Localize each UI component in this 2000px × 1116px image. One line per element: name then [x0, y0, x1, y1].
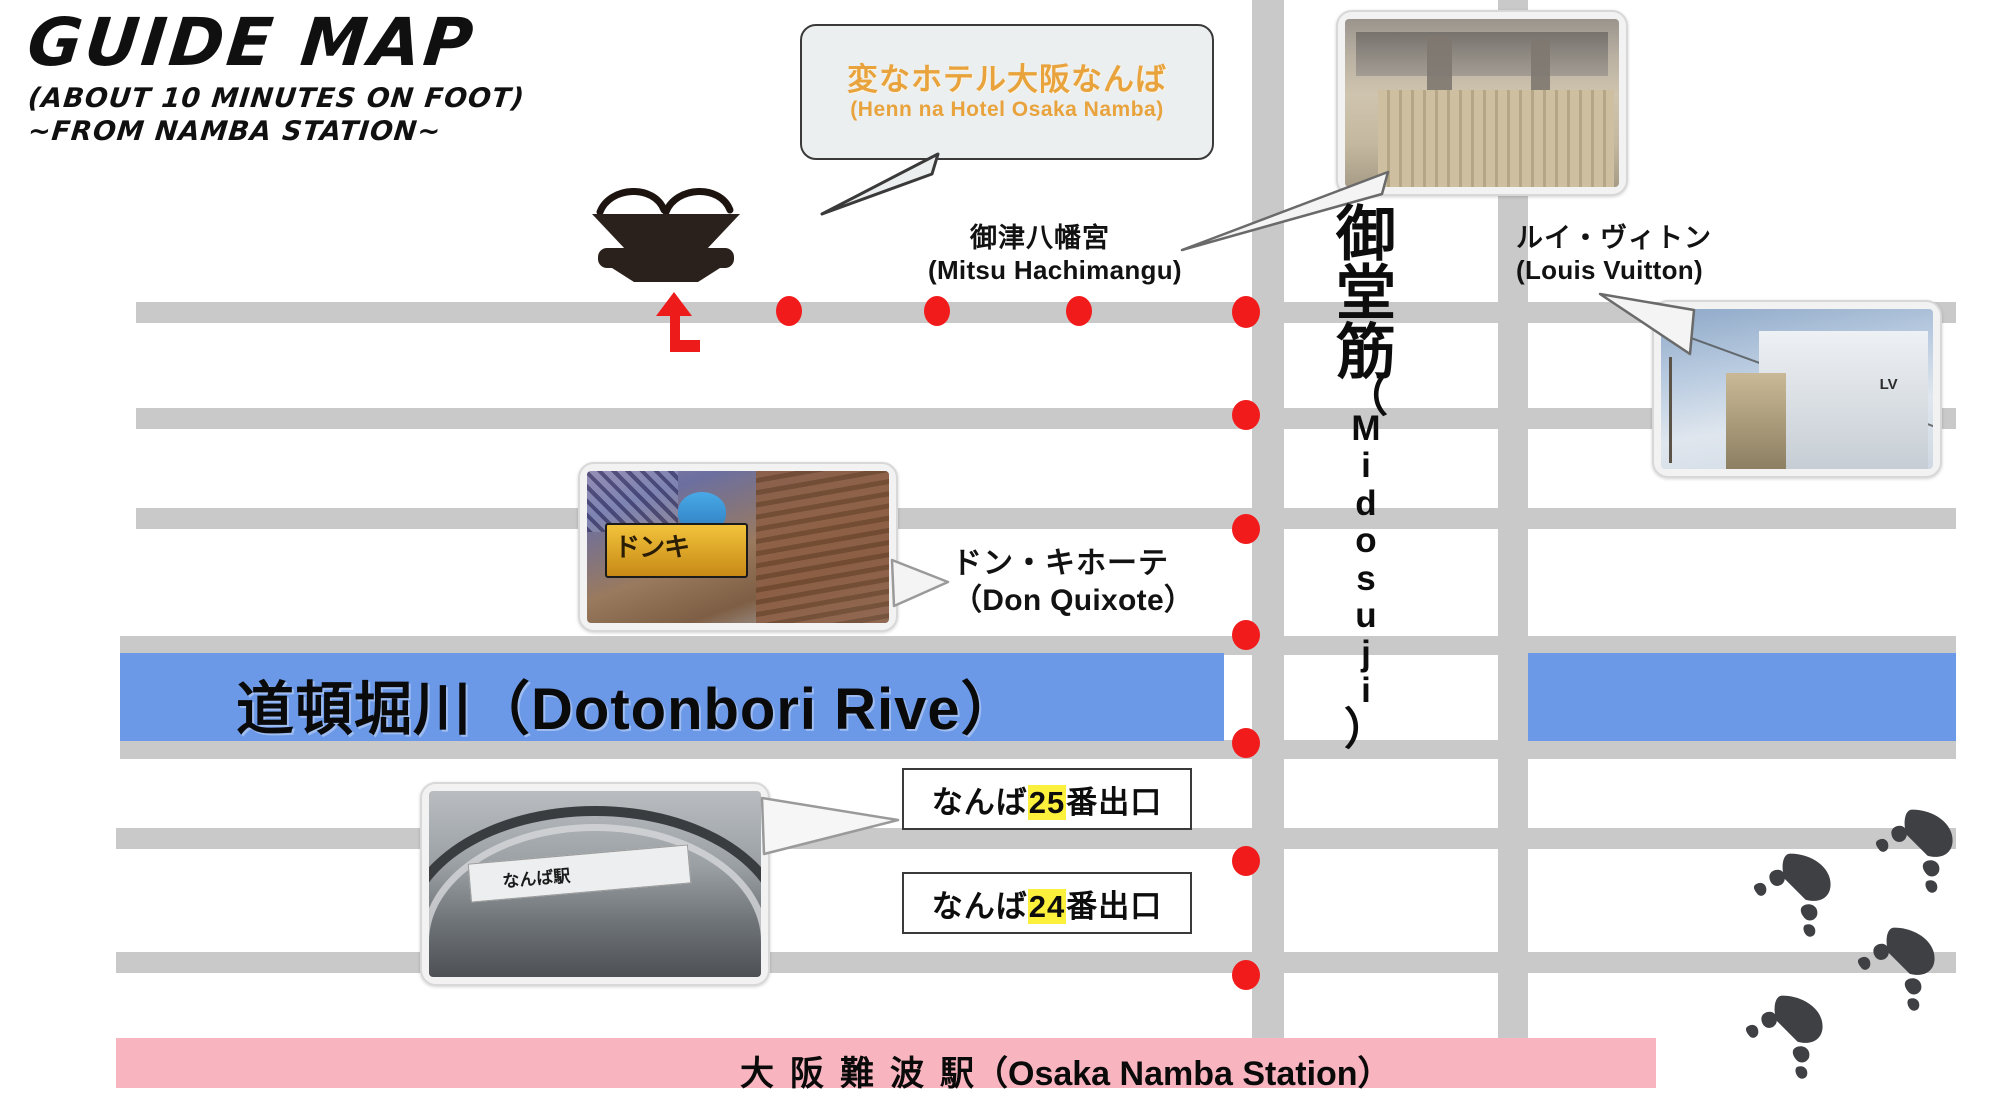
namba-exit-25-number: 25	[1028, 785, 1066, 820]
route-dot	[924, 296, 950, 326]
namba-exit-24-box[interactable]: なんば24番出口	[902, 872, 1192, 934]
photo-shrine-fence	[1378, 90, 1614, 187]
photo-lv-logo: LV	[1880, 376, 1898, 393]
photo-lv-building-side	[1726, 373, 1786, 469]
callout-henn-na-hotel-tail	[820, 152, 960, 216]
label-mitsu-hachimangu-ja: 御津八幡宮	[928, 222, 1182, 255]
hotel-logo-icon	[586, 178, 746, 288]
river-label-ja: 道頓堀川	[236, 677, 472, 742]
namba-exit-25-box[interactable]: なんば25番出口	[902, 768, 1192, 830]
photo-donki-sign-text: ドンキ	[614, 527, 741, 564]
midosuji-kanji-1: 御	[1336, 206, 1396, 265]
midosuji-kanji-2: 堂	[1336, 265, 1396, 324]
station-label-en: （Osaka Namba Station）	[974, 1055, 1392, 1093]
label-don-quixote-en: （Don Quixote）	[952, 583, 1194, 620]
station-label-kanji-suffix: 駅	[940, 1055, 974, 1093]
river-label-en: （Dotonbori Rive）	[472, 677, 1020, 742]
midosuji-paren-close: ）	[1344, 717, 1388, 743]
label-don-quixote-ja: ドン・キホーテ	[952, 546, 1194, 583]
dotonbori-river-band-east	[1528, 653, 1956, 741]
route-dot	[776, 296, 802, 326]
route-dot	[1066, 296, 1092, 326]
station-label-kanji: 大阪難波	[740, 1055, 940, 1093]
route-dot	[1232, 400, 1260, 430]
route-dot	[1232, 728, 1260, 758]
street-label-midosuji: 御 堂 筋 （ M i d o s u j i ）	[1314, 206, 1418, 743]
page-title: GUIDE MAP	[24, 8, 528, 77]
photo-namba-station-tail	[760, 790, 902, 860]
page-subtitle-line-1: (ABOUT 10 MINUTES ON FOOT)	[26, 83, 526, 116]
midosuji-latin-6: u	[1355, 597, 1376, 634]
road-horizontal-7	[116, 952, 1956, 973]
midosuji-latin-5: s	[1356, 560, 1375, 597]
footprint-icon	[1852, 918, 1948, 1018]
label-louis-vuitton-en: (Louis Vuitton)	[1516, 255, 1712, 287]
midosuji-paren-open: （	[1344, 384, 1388, 410]
route-dot	[1232, 846, 1260, 876]
route-dot	[1232, 960, 1260, 990]
midosuji-latin-3: d	[1355, 485, 1376, 522]
callout-henn-na-hotel-ja: 変なホテル大阪なんば	[847, 62, 1167, 98]
guide-map-canvas: GUIDE MAP (ABOUT 10 MINUTES ON FOOT) ~FR…	[0, 0, 2000, 1116]
photo-namba-station[interactable]: なんば駅	[420, 782, 770, 986]
midosuji-latin-2: i	[1361, 447, 1371, 484]
red-arrow-icon	[648, 288, 708, 352]
midosuji-latin-1: M	[1351, 410, 1380, 447]
midosuji-latin-8: i	[1361, 672, 1371, 709]
photo-louis-vuitton-tail	[1598, 292, 1698, 378]
route-dot	[1232, 514, 1260, 544]
midosuji-latin-7: j	[1361, 635, 1371, 672]
river-label: 道頓堀川（Dotonbori Rive）	[236, 662, 1020, 746]
photo-shrine[interactable]	[1336, 10, 1628, 196]
label-mitsu-hachimangu: 御津八幡宮 (Mitsu Hachimangu)	[928, 222, 1182, 287]
namba-exit-24-number: 24	[1028, 889, 1066, 924]
footprint-icon	[1740, 986, 1836, 1086]
photo-donki-brick-building	[756, 471, 889, 623]
route-dot	[1232, 296, 1260, 328]
label-louis-vuitton-ja: ルイ・ヴィトン	[1516, 222, 1712, 255]
callout-henn-na-hotel: 変なホテル大阪なんば (Henn na Hotel Osaka Namba)	[800, 24, 1214, 160]
label-louis-vuitton: ルイ・ヴィトン (Louis Vuitton)	[1516, 222, 1712, 287]
label-don-quixote: ドン・キホーテ （Don Quixote）	[952, 546, 1194, 619]
namba-exit-24-label: なんば24番出口	[932, 881, 1162, 926]
page-title-block: GUIDE MAP (ABOUT 10 MINUTES ON FOOT) ~FR…	[28, 8, 525, 149]
callout-henn-na-hotel-en: (Henn na Hotel Osaka Namba)	[850, 97, 1163, 122]
photo-don-quixote[interactable]: ドンキ	[578, 462, 898, 632]
label-mitsu-hachimangu-en: (Mitsu Hachimangu)	[928, 255, 1182, 287]
midosuji-latin-4: o	[1355, 522, 1376, 559]
route-dot	[1232, 620, 1260, 650]
page-subtitle-line-2: ~FROM NAMBA STATION~	[26, 116, 526, 149]
footprint-icon	[1870, 800, 1966, 900]
road-horizontal-3	[136, 508, 1956, 529]
photo-shrine-torii	[1356, 32, 1608, 76]
footprint-icon	[1748, 844, 1844, 944]
photo-don-quixote-tail	[890, 554, 952, 612]
station-label: 大阪難波駅（Osaka Namba Station）	[740, 1046, 1392, 1095]
road-horizontal-6	[116, 828, 1956, 849]
namba-exit-25-label: なんば25番出口	[932, 777, 1162, 822]
